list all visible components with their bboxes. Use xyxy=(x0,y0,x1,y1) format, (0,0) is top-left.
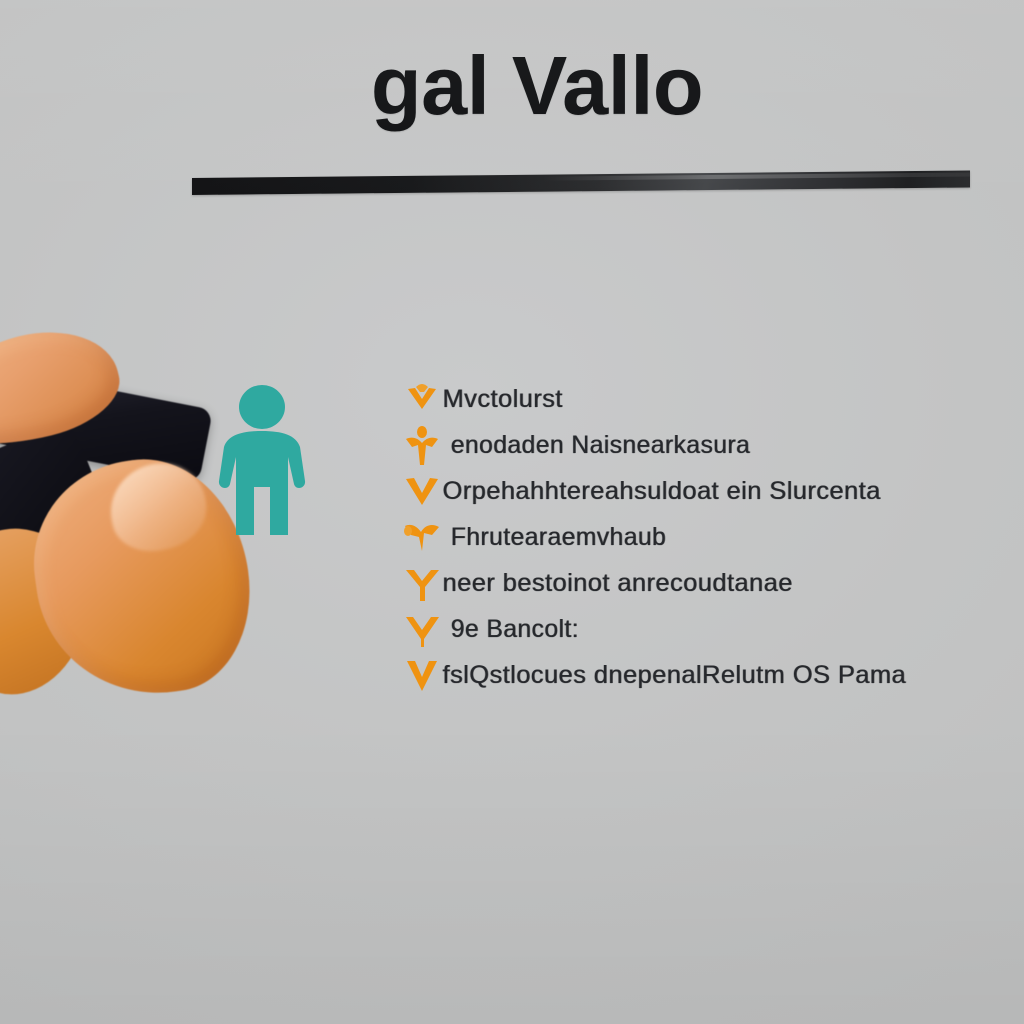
chevron-down-icon xyxy=(396,560,448,606)
bullet-list: Mvctolurst enodaden Naisnearkasura Orpeh… xyxy=(396,376,996,698)
list-item-label: Orpehahhtereahsuldoat ein Slurcenta xyxy=(443,477,1002,506)
page-title: gal Vallo xyxy=(0,44,1024,127)
title-divider xyxy=(192,171,970,195)
list-item[interactable]: fslQstlocues dnepenalRelutm OS Pama xyxy=(396,652,996,698)
list-item-label: fslQstlocues dnepenalRelutm OS Pama xyxy=(443,661,1002,690)
person-icon xyxy=(216,385,308,535)
chevron-down-icon xyxy=(396,422,448,468)
list-item-label: 9e Bancolt: xyxy=(451,615,994,644)
list-item-label: Fhrutearaemvhaub xyxy=(451,523,994,552)
slide-canvas: gal Vallo xyxy=(0,0,1024,1024)
list-item-label: Mvctolurst xyxy=(443,385,1002,414)
list-item[interactable]: Mvctolurst xyxy=(396,376,996,422)
list-item-label: enodaden Naisnearkasura xyxy=(451,431,994,460)
list-item[interactable]: 9e Bancolt: xyxy=(396,606,996,652)
chevron-down-icon xyxy=(396,514,448,560)
chevron-down-icon xyxy=(396,606,448,652)
list-item[interactable]: Orpehahhtereahsuldoat ein Slurcenta xyxy=(396,468,996,514)
divider-highlight xyxy=(192,173,970,184)
list-item[interactable]: neer bestoinot anrecoudtanae xyxy=(396,560,996,606)
chevron-down-icon xyxy=(396,468,448,514)
chevron-down-icon xyxy=(396,376,448,422)
list-item[interactable]: Fhrutearaemvhaub xyxy=(396,514,996,560)
list-item[interactable]: enodaden Naisnearkasura xyxy=(396,422,996,468)
list-item-label: neer bestoinot anrecoudtanae xyxy=(443,569,1002,598)
chevron-down-icon xyxy=(396,652,448,698)
